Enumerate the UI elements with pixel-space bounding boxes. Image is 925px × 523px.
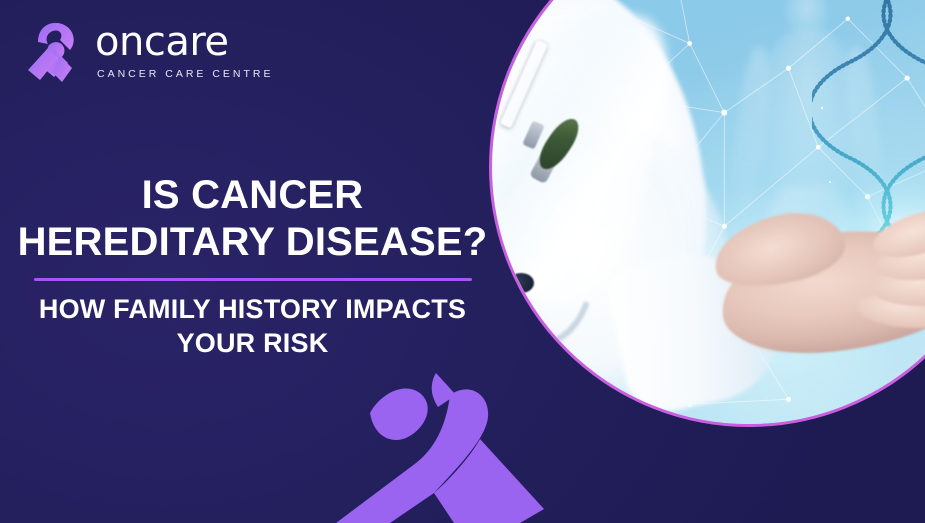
headline-line-2: HEREDITARY DISEASE? [0, 219, 505, 266]
logo[interactable]: oncare CANCER CARE CENTRE [24, 18, 274, 84]
headline-block: IS CANCER HEREDITARY DISEASE? HOW FAMILY… [0, 172, 505, 361]
logo-wordmark: oncare [95, 23, 274, 61]
banner: oncare CANCER CARE CENTRE IS CANCER HERE… [0, 0, 925, 523]
open-palm-hand [657, 210, 925, 420]
logo-tagline: CANCER CARE CENTRE [97, 68, 274, 80]
headline-line-1: IS CANCER [0, 172, 505, 219]
logo-text: oncare CANCER CARE CENTRE [95, 23, 274, 80]
headline-divider [34, 278, 472, 281]
hero-photo-inner [492, 0, 925, 424]
hero-photo-circle [489, 0, 925, 427]
awareness-ribbon-logo-mark [24, 18, 84, 84]
subheadline-line-1: HOW FAMILY HISTORY IMPACTS [0, 292, 505, 327]
subheadline-line-2: YOUR RISK [0, 326, 505, 361]
stethoscope-earpiece [508, 273, 534, 293]
